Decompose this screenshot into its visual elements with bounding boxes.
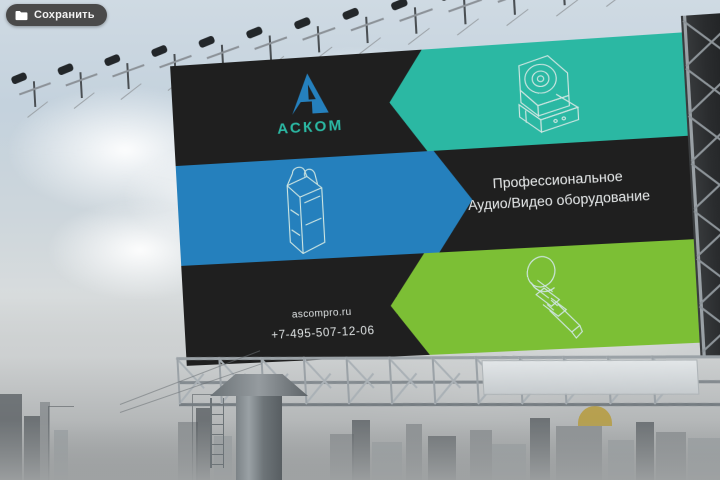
billboard-contacts: ascompro.ru +7-495-507-12-06 — [226, 299, 421, 349]
blank-ad-panel — [481, 359, 699, 394]
loudspeaker-icon — [258, 160, 348, 259]
billboard-ad-face: АСКОМ Профессиональное Аудио/Видео обору… — [170, 32, 702, 366]
billboard: АСКОМ Профессиональное Аудио/Видео обору… — [168, 0, 720, 388]
ascom-logo: АСКОМ — [247, 67, 372, 138]
save-button[interactable]: Сохранить — [6, 4, 107, 26]
save-button-label: Сохранить — [34, 9, 95, 21]
billboard-column — [236, 388, 282, 480]
ascom-a-mark-icon — [284, 70, 333, 119]
screenshot-canvas: АСКОМ Профессиональное Аудио/Видео обору… — [0, 0, 720, 480]
maintenance-ladder — [210, 398, 224, 468]
folder-save-icon — [15, 10, 28, 21]
ground-fog — [0, 420, 720, 480]
ptz-camera-icon — [493, 47, 588, 139]
microphone-icon — [509, 251, 598, 345]
